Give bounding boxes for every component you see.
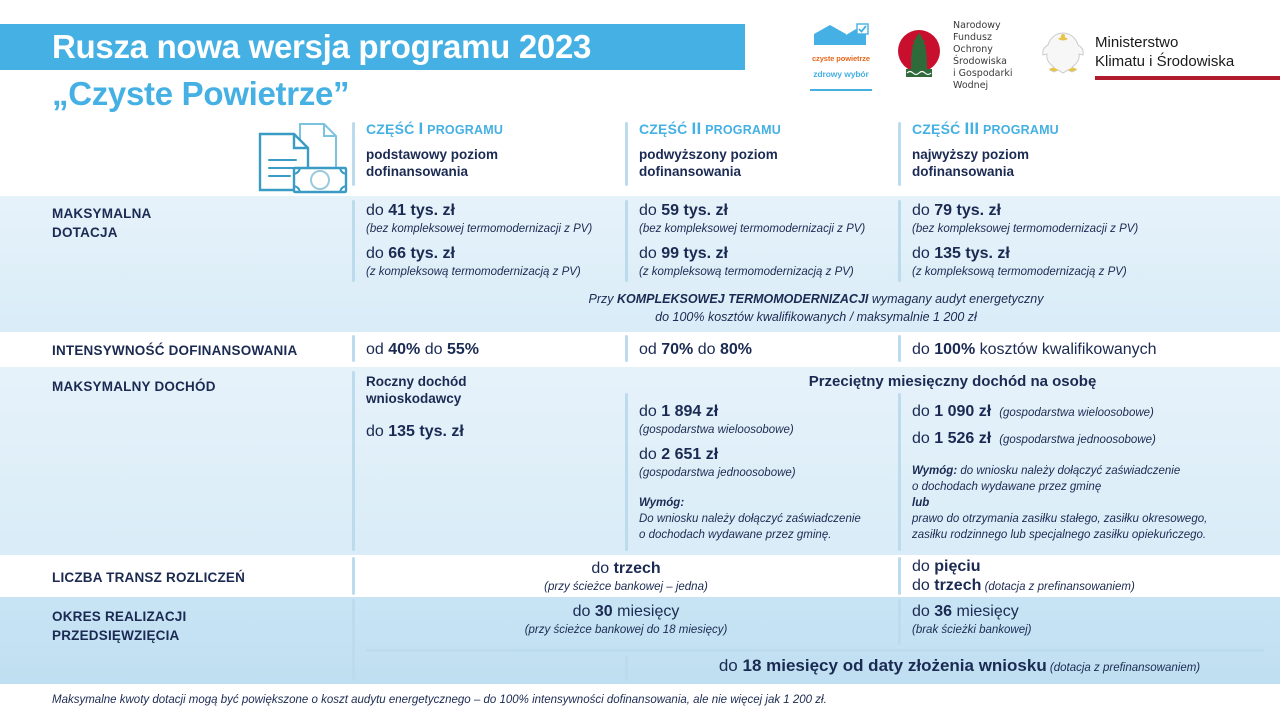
ministry-name: Ministerstwo Klimatu i Środowiska [1095,33,1280,80]
page-title-line1: Rusza nowa wersja programu 2023 [52,26,591,68]
ministry-line1: Ministerstwo [1095,33,1280,52]
dochod-col1-heading-line1: Roczny dochód [366,373,616,390]
dotacja-col2-note-b: (z kompleksową termomodernizacją z PV) [639,264,889,280]
row-label-okres-realizacji: OKRES REALIZACJI PRZEDSIĘWZIĘCIA [52,607,342,645]
transze-col3-line2: do trzech (dotacja z prefinansowaniem) [912,576,1242,595]
dotacja-col1-note-b: (z kompleksową termomodernizacją z PV) [366,264,616,280]
cell-dochod-col2: do 1 894 zł (gospodarstwa wieloosobowe) … [639,401,889,543]
dochod-col2-note-b: (gospodarstwa jednoosobowe) [639,465,889,481]
dotacja-col3-amount-a: do 79 tys. zł [912,200,1242,221]
row-label-liczba-transz: LICZBA TRANSZ ROZLICZEŃ [52,568,352,587]
nfosigw-line1: Narodowy Fundusz [953,20,1018,44]
okres-col3-note: (brak ścieżki bankowej) [912,622,1242,638]
dochod-col3-note-b: (gospodarstwa jednoosobowe) [999,434,1156,446]
row-intensywnosc-dofinansowania: INTENSYWNOŚĆ DOFINANSOWANIA od 40% do 55… [0,332,1280,367]
nfosigw-emblem-icon [892,27,946,86]
logo-cp-text-line1: czyste powietrze [812,55,870,63]
logo-nfosigw: Narodowy Fundusz Ochrony Środowiska i Go… [892,20,1018,92]
row-maksymalna-dotacja: MAKSYMALNA DOTACJA do 41 tys. zł (bez ko… [0,196,1280,332]
cell-dotacja-col2: do 59 tys. zł (bez kompleksowej termomod… [639,200,889,280]
dochod-col3-req-line4: zasiłku rodzinnego lub specjalnego zasił… [912,527,1242,543]
logo-cp-text-line2: zdrowy wybór [813,70,868,79]
audit-note-line2: do 100% kosztów kwalifikowanych / maksym… [352,308,1280,326]
column-1-subtitle-line2: dofinansowania [366,163,616,180]
column-header-part-2: CZĘŚĆ II PROGRAMU podwyższony poziom dof… [639,120,889,180]
okres-center-note: (przy ścieżce bankowej do 18 miesięcy) [366,622,886,638]
transze-col3-line1: do pięciu [912,557,1242,576]
column-divider-1 [352,557,355,595]
column-3-subtitle: najwyższy poziom dofinansowania [912,146,1242,180]
dochod-col3-amount-b: do 1 526 zł(gospodarstwa jednoosobowe) [912,428,1242,449]
cell-dotacja-col3: do 79 tys. zł (bez kompleksowej termomod… [912,200,1242,280]
dochod-col2-note-a: (gospodarstwa wieloosobowe) [639,422,889,438]
intensywnosc-col2-value: od 70% do 80% [639,339,889,360]
column-divider-2 [625,200,628,282]
logo-strip: czyste powietrze zdrowy wybór [792,20,1280,92]
column-divider-1 [352,200,355,282]
intensywnosc-col1-value: od 40% do 55% [366,339,616,360]
column-divider-2 [625,335,628,362]
logo-ministry: Ministerstwo Klimatu i Środowiska [1038,28,1280,85]
okres-bottom-main: do 18 miesięcy od daty złożenia wniosku … [639,655,1280,676]
dochod-col3-req-line3: prawo do otrzymania zasiłku stałego, zas… [912,511,1242,527]
nfosigw-name: Narodowy Fundusz Ochrony Środowiska i Go… [953,20,1018,92]
dochod-col3-req-line2: o dochodach wydawane przez gminę [912,479,1242,495]
cell-dochod-col3: do 1 090 zł(gospodarstwa wieloosobowe) d… [912,401,1242,543]
footnote-text: Maksymalne kwoty dotacji mogą być powięk… [52,694,827,706]
ministry-red-rule [1095,76,1280,80]
okres-center-main: do 30 miesięcy [366,601,886,622]
cell-okres-col3: do 36 miesięcy (brak ścieżki bankowej) [912,601,1242,638]
cell-intensywnosc-col3: do 100% kosztów kwalifikowanych [912,339,1242,360]
horizontal-divider [366,649,1264,652]
dochod-col1-heading: Roczny dochód wnioskodawcy [366,373,616,407]
cell-okres-center: do 30 miesięcy (przy ścieżce bankowej do… [366,601,886,638]
label-line2: PRZEDSIĘWZIĘCIA [52,626,342,645]
nfosigw-line3: i Gospodarki Wodnej [953,68,1018,92]
dochod-col1-amount: do 135 tys. zł [366,421,616,442]
column-divider-1 [352,122,355,186]
dochod-col3-req-line1: Wymóg: do wniosku należy dołączyć zaświa… [912,463,1242,479]
column-3-title: CZĘŚĆ III PROGRAMU [912,120,1242,139]
nfosigw-line2: Ochrony Środowiska [953,44,1018,68]
row-liczba-transz: LICZBA TRANSZ ROZLICZEŃ do trzech (przy … [0,555,1280,597]
label-line1: OKRES REALIZACJI [52,607,342,626]
row-footnote: Maksymalne kwoty dotacji mogą być powięk… [0,684,1280,720]
column-1-subtitle: podstawowy poziom dofinansowania [366,146,616,180]
cell-dochod-col1: Roczny dochód wnioskodawcy do 135 tys. z… [366,373,616,442]
column-header-part-3: CZĘŚĆ III PROGRAMU najwyższy poziom dofi… [912,120,1242,180]
intensywnosc-col3-value: do 100% kosztów kwalifikowanych [912,339,1242,360]
column-1-subtitle-line1: podstawowy poziom [366,146,616,163]
cell-dotacja-col1: do 41 tys. zł (bez kompleksowej termomod… [366,200,616,280]
column-2-subtitle-line2: dofinansowania [639,163,889,180]
column-divider-3 [898,335,901,362]
ministry-line2: Klimatu i Środowiska [1095,52,1280,71]
transze-center-note: (przy ścieżce bankowej – jedna) [366,579,886,595]
dotacja-col2-amount-a: do 59 tys. zł [639,200,889,221]
column-divider-1 [352,335,355,362]
row-label-maksymalna-dotacja: MAKSYMALNA DOTACJA [52,204,342,242]
dotacja-col2-amount-b: do 99 tys. zł [639,243,889,264]
polish-eagle-icon [1038,28,1088,85]
column-divider-2 [625,393,628,551]
column-3-subtitle-line2: dofinansowania [912,163,1242,180]
column-1-title: CZĘŚĆ I PROGRAMU [366,120,616,139]
cell-intensywnosc-col2: od 70% do 80% [639,339,889,360]
dotacja-col1-amount-b: do 66 tys. zł [366,243,616,264]
logo-czyste-powietrze: czyste powietrze zdrowy wybór [810,22,872,91]
page-title-line2: „Czyste Powietrze” [52,74,349,114]
column-2-subtitle-line1: podwyższony poziom [639,146,889,163]
dochod-col2-amount-a: do 1 894 zł [639,401,889,422]
transze-center-main: do trzech [366,558,886,579]
column-divider-1 [352,599,355,681]
dotacja-col3-note-b: (z kompleksową termomodernizacją z PV) [912,264,1242,280]
cell-okres-prefinansowanie: do 18 miesięcy od daty złożenia wniosku … [639,655,1280,676]
dotacja-col3-note-a: (bez kompleksowej termomodernizacji z PV… [912,221,1242,237]
column-divider-1 [352,371,355,551]
column-divider-3 [898,557,901,595]
logo-cp-rule [810,89,872,91]
dotacja-col1-note-a: (bez kompleksowej termomodernizacji z PV… [366,221,616,237]
column-divider-3 [898,393,901,551]
column-2-title: CZĘŚĆ II PROGRAMU [639,120,889,139]
okres-col3-main: do 36 miesięcy [912,601,1242,622]
dotacja-col1-amount-a: do 41 tys. zł [366,200,616,221]
dotacja-col3-amount-b: do 135 tys. zł [912,243,1242,264]
dochod-col2-req-line2: o dochodach wydawane przez gminę. [639,527,889,543]
dotacja-col2-note-a: (bez kompleksowej termomodernizacji z PV… [639,221,889,237]
cell-transze-col3: do pięciu do trzech (dotacja z prefinans… [912,557,1242,595]
row-column-headers: CZĘŚĆ I PROGRAMU podstawowy poziom dofin… [0,112,1280,196]
cell-intensywnosc-col1: od 40% do 55% [366,339,616,360]
column-2-subtitle: podwyższony poziom dofinansowania [639,146,889,180]
label-line2: DOTACJA [52,223,342,242]
page-header: Rusza nowa wersja programu 2023 „Czyste … [0,0,1280,112]
column-divider-3 [898,200,901,282]
row-label-intensywnosc: INTENSYWNOŚĆ DOFINANSOWANIA [52,341,352,360]
label-line1: MAKSYMALNA [52,204,342,223]
dochod-col3-note-a: (gospodarstwa wieloosobowe) [999,407,1154,419]
dochod-col1-heading-line2: wnioskodawcy [366,390,616,407]
column-divider-3 [898,122,901,186]
document-money-icon [238,118,350,201]
row-okres-realizacji: OKRES REALIZACJI PRZEDSIĘWZIĘCIA do 30 m… [0,597,1280,684]
house-icon [810,22,872,46]
okres-bottom-note: (dotacja z prefinansowaniem) [1047,662,1200,674]
row-label-maksymalny-dochod: MAKSYMALNY DOCHÓD [52,377,342,396]
transze-col3-note: (dotacja z prefinansowaniem) [981,581,1134,593]
dochod-col3-amount-a: do 1 090 zł(gospodarstwa wieloosobowe) [912,401,1242,422]
infographic-page: Rusza nowa wersja programu 2023 „Czyste … [0,0,1280,720]
column-divider-2 [625,655,628,681]
column-header-part-1: CZĘŚĆ I PROGRAMU podstawowy poziom dofin… [366,120,616,180]
dochod-col2-req-label: Wymóg: [639,495,889,511]
column-divider-2 [625,122,628,186]
column-3-subtitle-line1: najwyższy poziom [912,146,1242,163]
cell-transze-center: do trzech (przy ścieżce bankowej – jedna… [366,558,886,595]
dochod-col2-req-line1: Do wniosku należy dołączyć zaświadczenie [639,511,889,527]
dochod-col2-amount-b: do 2 651 zł [639,444,889,465]
column-divider-3 [898,599,901,645]
audit-note-line1: Przy KOMPLEKSOWEJ TERMOMODERNIZACJI wyma… [352,290,1280,308]
row-maksymalny-dochod: MAKSYMALNY DOCHÓD Roczny dochód wnioskod… [0,367,1280,555]
audit-requirement-note: Przy KOMPLEKSOWEJ TERMOMODERNIZACJI wyma… [352,290,1280,326]
dochod-col3-or-label: lub [912,495,1242,511]
dochod-shared-heading: Przeciętny miesięczny dochód na osobę [625,373,1280,390]
